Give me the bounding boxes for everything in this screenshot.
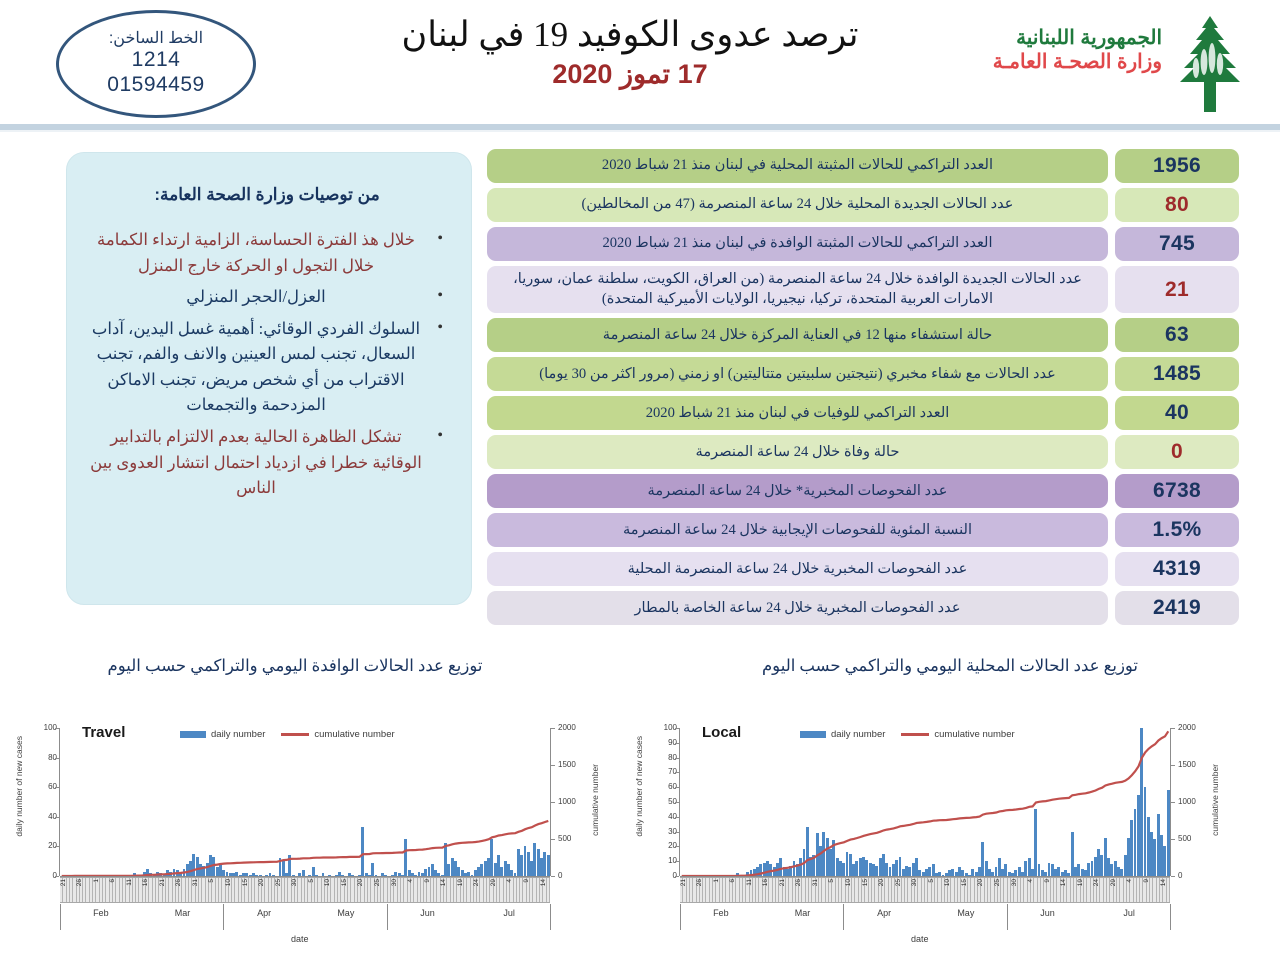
- y2-tick-label: 1000: [558, 797, 576, 806]
- y-tick-mark: [675, 817, 679, 818]
- stat-label: عدد الفحوصات المخبرية خلال 24 ساعة المنص…: [487, 552, 1108, 586]
- y-axis-label: daily number of new cases: [14, 736, 24, 837]
- date-tick-label: 9: [524, 879, 531, 883]
- y-tick-mark: [675, 743, 679, 744]
- month-separator: [1007, 904, 1008, 930]
- y-tick-mark: [675, 772, 679, 773]
- date-tick-label: 19: [458, 879, 465, 886]
- stat-row: حالة استشفاء منها 12 في العناية المركزة …: [487, 318, 1239, 352]
- date-tick-label: 14: [1161, 879, 1168, 886]
- y2-tick-mark: [551, 728, 555, 729]
- stat-row: حالة وفاة خلال 24 ساعة المنصرمة0: [487, 435, 1239, 469]
- date-tick-label: 25: [375, 879, 382, 886]
- month-label: Mar: [762, 908, 844, 918]
- x-axis-label: date: [911, 934, 929, 944]
- stat-value: 2419: [1115, 591, 1239, 625]
- date-tick-strip: 2126161116212631510152025305101520253049…: [60, 877, 550, 903]
- stat-label: عدد الفحوصات المخبرية* خلال 24 ساعة المن…: [487, 474, 1108, 508]
- y-tick-mark: [55, 728, 59, 729]
- date-tick-label: 26: [697, 879, 704, 886]
- stat-row: عدد الحالات الجديدة المحلية خلال 24 ساعة…: [487, 188, 1239, 222]
- stat-value: 1485: [1115, 357, 1239, 391]
- y2-tick-label: 500: [1178, 834, 1191, 843]
- date-tick-label: 4: [1028, 879, 1035, 883]
- date-tick-label: 26: [77, 879, 84, 886]
- y-tick-label: 20: [652, 841, 677, 850]
- y2-tick-mark: [551, 765, 555, 766]
- travel-chart-caption: توزيع عدد الحالات الوافدة اليومي والتراك…: [70, 656, 520, 676]
- date-tick-label: 6: [730, 879, 737, 883]
- date-tick-label: 30: [392, 879, 399, 886]
- stat-row: عدد الفحوصات المخبرية* خلال 24 ساعة المن…: [487, 474, 1239, 508]
- y-tick-mark: [55, 787, 59, 788]
- date-tick-label: 15: [863, 879, 870, 886]
- y2-tick-label: 1500: [1178, 760, 1196, 769]
- stat-value: 4319: [1115, 552, 1239, 586]
- stat-row: العدد التراكمي للوفيات في لبنان منذ 21 ش…: [487, 396, 1239, 430]
- page-header: الخط الساخن: 1214 01594459 ترصد عدوى الك…: [0, 0, 1280, 126]
- date-tick-label: 26: [796, 879, 803, 886]
- month-label: Jun: [1007, 908, 1089, 918]
- y-axis-label: daily number of new cases: [634, 736, 644, 837]
- header-divider-light: [0, 130, 1280, 132]
- y2-tick-mark: [1171, 728, 1175, 729]
- date-tick-label: 5: [209, 879, 216, 883]
- stat-row: عدد الحالات الجديدة الوافدة خلال 24 ساعة…: [487, 266, 1239, 313]
- stat-label: عدد الفحوصات المخبرية خلال 24 ساعة الخاص…: [487, 591, 1108, 625]
- date-tick-label: 20: [358, 879, 365, 886]
- x-axis-label: date: [291, 934, 309, 944]
- date-tick-label: 16: [143, 879, 150, 886]
- y2-tick-label: 2000: [558, 723, 576, 732]
- cumulative-line: [680, 728, 1170, 876]
- date-tick-label: 21: [160, 879, 167, 886]
- month-label: Apr: [843, 908, 925, 918]
- y-tick-mark: [675, 758, 679, 759]
- stat-label: العدد التراكمي للحالات المثبتة المحلية ف…: [487, 149, 1108, 183]
- y-tick-label: 0: [32, 871, 57, 880]
- y-tick-label: 90: [652, 738, 677, 747]
- stat-value: 0: [1115, 435, 1239, 469]
- date-tick-label: 25: [995, 879, 1002, 886]
- y-tick-label: 70: [652, 767, 677, 776]
- month-separator: [550, 904, 551, 930]
- recommendations-panel: من توصيات وزارة الصحة العامة: خلال هذ ال…: [66, 152, 472, 605]
- stat-label: العدد التراكمي للحالات المثبتة الوافدة ف…: [487, 227, 1108, 261]
- stat-value: 21: [1115, 266, 1239, 313]
- cumulative-line: [60, 728, 550, 876]
- date-tick-label: 15: [962, 879, 969, 886]
- month-separator: [387, 904, 388, 930]
- date-tick-label: 21: [780, 879, 787, 886]
- date-tick-label: 10: [325, 879, 332, 886]
- y2-axis-label: cumulative number: [1210, 764, 1220, 836]
- y-tick-label: 50: [652, 797, 677, 806]
- date-tick-label: 24: [1094, 879, 1101, 886]
- y-tick-mark: [55, 758, 59, 759]
- y-tick-label: 80: [652, 753, 677, 762]
- date-tick-label: 1: [714, 879, 721, 883]
- local-chart-caption: توزيع عدد الحالات المحلية اليومي والتراك…: [700, 656, 1200, 676]
- date-tick-label: 14: [541, 879, 548, 886]
- date-tick-label: 14: [1061, 879, 1068, 886]
- recommendation-item: السلوك الفردي الوقائي: أهمية غسل اليدين،…: [89, 316, 445, 418]
- travel-chart: Traveldaily numbercumulative number02040…: [8, 714, 628, 960]
- month-label: Feb: [60, 908, 142, 918]
- recommendations-list: خلال هذ الفترة الحساسة، الزامية ارتداء ا…: [89, 227, 445, 501]
- stat-label: النسبة المئوية للفحوصات الإيجابية خلال 2…: [487, 513, 1108, 547]
- stat-label: عدد الحالات الجديدة المحلية خلال 24 ساعة…: [487, 188, 1108, 222]
- y2-tick-label: 0: [1178, 871, 1182, 880]
- month-label: Jul: [1088, 908, 1170, 918]
- date-tick-label: 20: [879, 879, 886, 886]
- y-tick-mark: [675, 832, 679, 833]
- y-tick-mark: [55, 876, 59, 877]
- date-tick-label: 4: [507, 879, 514, 883]
- date-tick-label: 15: [342, 879, 349, 886]
- recommendations-title: من توصيات وزارة الصحة العامة:: [89, 185, 445, 205]
- date-tick-label: 5: [929, 879, 936, 883]
- date-tick-label: 30: [1012, 879, 1019, 886]
- ministry-line-1: الجمهورية اللبنانية: [993, 26, 1162, 50]
- y-tick-label: 40: [652, 812, 677, 821]
- stat-row: النسبة المئوية للفحوصات الإيجابية خلال 2…: [487, 513, 1239, 547]
- date-tick-label: 10: [226, 879, 233, 886]
- date-tick-label: 21: [61, 879, 68, 886]
- stat-row: عدد الحالات مع شفاء مخبري (نتيجتين سلبيت…: [487, 357, 1239, 391]
- stat-label: حالة وفاة خلال 24 ساعة المنصرمة: [487, 435, 1108, 469]
- local-chart: Localdaily numbercumulative number010203…: [628, 714, 1248, 960]
- month-label: Apr: [223, 908, 305, 918]
- stat-value: 6738: [1115, 474, 1239, 508]
- stat-value: 1.5%: [1115, 513, 1239, 547]
- y2-axis-label: cumulative number: [590, 764, 600, 836]
- date-tick-label: 24: [474, 879, 481, 886]
- date-tick-label: 25: [896, 879, 903, 886]
- y2-tick-mark: [551, 839, 555, 840]
- date-tick-label: 10: [945, 879, 952, 886]
- date-tick-label: 9: [1144, 879, 1151, 883]
- date-tick-label: 16: [763, 879, 770, 886]
- date-tick-label: 19: [1078, 879, 1085, 886]
- cedar-tree-icon: [1168, 12, 1252, 116]
- date-tick-label: 9: [1045, 879, 1052, 883]
- y-tick-mark: [675, 802, 679, 803]
- date-tick-label: 21: [681, 879, 688, 886]
- y-tick-mark: [675, 728, 679, 729]
- month-label: Feb: [680, 908, 762, 918]
- stat-row: العدد التراكمي للحالات المثبتة الوافدة ف…: [487, 227, 1239, 261]
- date-tick-label: 9: [425, 879, 432, 883]
- y2-tick-mark: [1171, 839, 1175, 840]
- date-tick-label: 31: [193, 879, 200, 886]
- date-tick-label: 4: [408, 879, 415, 883]
- recommendation-item: العزل/الحجر المنزلي: [89, 284, 445, 310]
- month-separator: [843, 904, 844, 930]
- y-tick-label: 10: [652, 856, 677, 865]
- month-separator: [680, 904, 681, 930]
- y-tick-label: 40: [32, 812, 57, 821]
- date-tick-label: 10: [846, 879, 853, 886]
- y2-tick-mark: [551, 876, 555, 877]
- date-tick-label: 5: [829, 879, 836, 883]
- y2-tick-mark: [1171, 802, 1175, 803]
- ministry-line-2: وزارة الصحـة العامـة: [993, 50, 1162, 74]
- page-title: ترصد عدوى الكوفيد 19 في لبنان: [300, 14, 960, 55]
- date-tick-label: 25: [276, 879, 283, 886]
- y-tick-label: 30: [652, 827, 677, 836]
- date-tick-label: 15: [243, 879, 250, 886]
- hotline-badge: الخط الساخن: 1214 01594459: [56, 10, 256, 118]
- hotline-number-2: 01594459: [107, 73, 204, 98]
- month-label: Jul: [468, 908, 550, 918]
- date-tick-label: 30: [912, 879, 919, 886]
- y-tick-mark: [675, 861, 679, 862]
- ministry-wordmark: الجمهورية اللبنانية وزارة الصحـة العامـة: [993, 26, 1162, 74]
- date-tick-label: 20: [978, 879, 985, 886]
- date-tick-label: 20: [259, 879, 266, 886]
- month-label: May: [925, 908, 1007, 918]
- y-tick-label: 60: [32, 782, 57, 791]
- stat-row: العدد التراكمي للحالات المثبتة المحلية ف…: [487, 149, 1239, 183]
- month-label: Jun: [387, 908, 469, 918]
- date-tick-label: 6: [110, 879, 117, 883]
- month-label: May: [305, 908, 387, 918]
- date-tick-label: 5: [309, 879, 316, 883]
- stat-value: 80: [1115, 188, 1239, 222]
- recommendation-item: خلال هذ الفترة الحساسة، الزامية ارتداء ا…: [89, 227, 445, 278]
- y-tick-mark: [675, 787, 679, 788]
- y2-tick-label: 500: [558, 834, 571, 843]
- y-tick-label: 60: [652, 782, 677, 791]
- date-tick-label: 14: [441, 879, 448, 886]
- hotline-label: الخط الساخن:: [109, 30, 203, 48]
- title-block: ترصد عدوى الكوفيد 19 في لبنان 17 تموز 20…: [300, 14, 960, 90]
- date-tick-label: 26: [176, 879, 183, 886]
- stat-value: 745: [1115, 227, 1239, 261]
- y-tick-label: 100: [652, 723, 677, 732]
- stat-label: العدد التراكمي للوفيات في لبنان منذ 21 ش…: [487, 396, 1108, 430]
- y-tick-mark: [675, 876, 679, 877]
- y2-tick-mark: [1171, 765, 1175, 766]
- stat-label: عدد الحالات مع شفاء مخبري (نتيجتين سلبيت…: [487, 357, 1108, 391]
- y-tick-label: 80: [32, 753, 57, 762]
- report-date: 17 تموز 2020: [300, 59, 960, 90]
- y-tick-label: 20: [32, 841, 57, 850]
- date-tick-label: 31: [813, 879, 820, 886]
- y2-tick-label: 0: [558, 871, 562, 880]
- month-label: Mar: [142, 908, 224, 918]
- date-tick-label: 29: [491, 879, 498, 886]
- y-tick-mark: [55, 846, 59, 847]
- y-tick-label: 0: [652, 871, 677, 880]
- y-tick-label: 100: [32, 723, 57, 732]
- date-tick-strip: 2126161116212631510152025305101520253049…: [680, 877, 1170, 903]
- stat-value: 1956: [1115, 149, 1239, 183]
- date-tick-label: 11: [127, 879, 134, 886]
- infographic-page: الخط الساخن: 1214 01594459 ترصد عدوى الك…: [0, 0, 1280, 960]
- recommendation-item: تشكل الظاهرة الحالية بعدم الالتزام بالتد…: [89, 424, 445, 501]
- y-tick-mark: [55, 817, 59, 818]
- stat-label: عدد الحالات الجديدة الوافدة خلال 24 ساعة…: [487, 266, 1108, 313]
- y2-tick-label: 1500: [558, 760, 576, 769]
- statistics-table: العدد التراكمي للحالات المثبتة المحلية ف…: [487, 149, 1239, 630]
- y2-tick-label: 1000: [1178, 797, 1196, 806]
- date-tick-label: 29: [1111, 879, 1118, 886]
- stat-row: عدد الفحوصات المخبرية خلال 24 ساعة المنص…: [487, 552, 1239, 586]
- date-tick-label: 30: [292, 879, 299, 886]
- stat-value: 40: [1115, 396, 1239, 430]
- month-separator: [1170, 904, 1171, 930]
- month-separator: [223, 904, 224, 930]
- stat-value: 63: [1115, 318, 1239, 352]
- hotline-number-1: 1214: [132, 48, 181, 73]
- y2-tick-mark: [1171, 876, 1175, 877]
- date-tick-label: 1: [94, 879, 101, 883]
- month-separator: [60, 904, 61, 930]
- stat-row: عدد الفحوصات المخبرية خلال 24 ساعة الخاص…: [487, 591, 1239, 625]
- date-tick-label: 4: [1127, 879, 1134, 883]
- date-tick-label: 11: [747, 879, 754, 886]
- y-tick-mark: [675, 846, 679, 847]
- stat-label: حالة استشفاء منها 12 في العناية المركزة …: [487, 318, 1108, 352]
- y2-tick-mark: [551, 802, 555, 803]
- y2-tick-label: 2000: [1178, 723, 1196, 732]
